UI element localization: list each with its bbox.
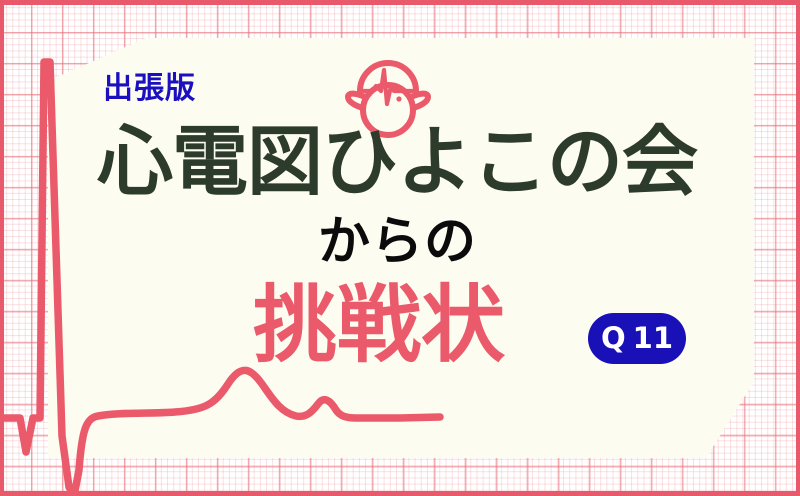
- banner-root: 出張版 心電図ひよこの会 からの 挑戦状 Q 11: [0, 0, 800, 496]
- question-number-badge: Q 11: [588, 313, 686, 364]
- page-title: 心電図ひよこの会: [97, 124, 697, 200]
- challenge-headline: 挑戦状: [253, 283, 505, 367]
- question-prefix: Q: [601, 324, 626, 353]
- question-number: 11: [633, 324, 673, 353]
- connector-text: からの: [318, 216, 477, 268]
- kicker-label: 出張版: [103, 74, 196, 104]
